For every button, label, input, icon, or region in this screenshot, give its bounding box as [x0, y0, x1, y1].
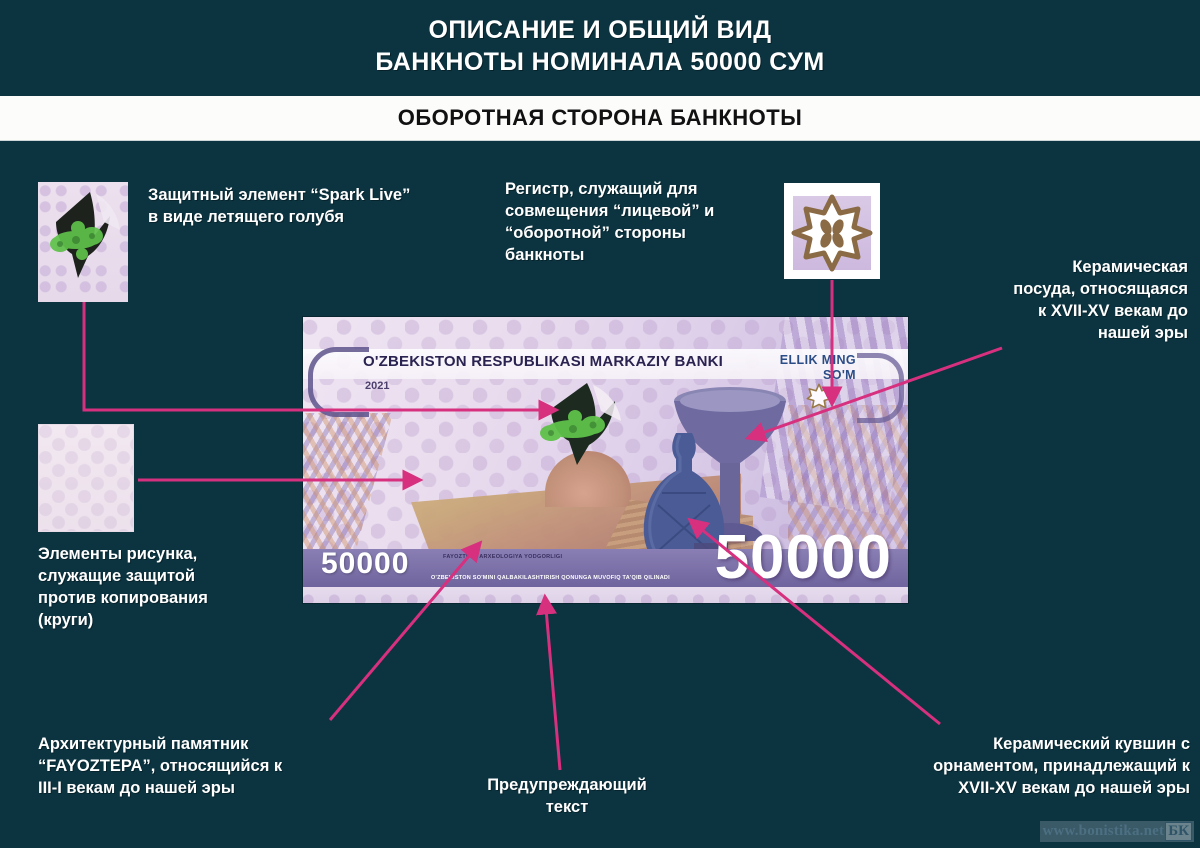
watermark-badge: БК [1165, 822, 1192, 841]
annotation-spark-live: Защитный элемент “Spark Live” в виде лет… [148, 184, 478, 228]
title-line-2: БАНКНОТЫ НОМИНАЛА 50000 СУМ [375, 46, 824, 78]
poster-root: ОПИСАНИЕ И ОБЩИЙ ВИД БАНКНОТЫ НОМИНАЛА 5… [0, 0, 1200, 848]
connector-warning-text [545, 597, 560, 770]
thumbnail-spark-live-dove [38, 182, 128, 302]
banknote-bank-name: O'ZBEKISTON RESPUBLIKASI MARKAZIY BANKI [363, 353, 723, 370]
annotation-anticopy: Элементы рисунка, служащие защитой проти… [38, 543, 288, 631]
annotation-monument: Архитектурный памятник “FAYOZTEPA”, отно… [38, 733, 348, 799]
banknote-year: 2021 [365, 380, 389, 392]
site-watermark: www.bonistika.net БК [1040, 821, 1194, 842]
thumbnail-register-star [784, 183, 880, 279]
banknote-monument-caption: FAYOZTEPA ARXEOLOGIYA YODGORLIGI [443, 554, 562, 560]
annotation-warning-text: Предупреждающий текст [452, 774, 682, 818]
banknote-image: O'ZBEKISTON RESPUBLIKASI MARKAZIY BANKI … [303, 317, 908, 603]
banknote-left-chevron [308, 347, 369, 417]
banknote-ellik-line2: SO'M [780, 368, 856, 383]
thumbnail-anticopy-circles [38, 424, 134, 532]
subtitle-bar: ОБОРОТНАЯ СТОРОНА БАНКНОТЫ [0, 96, 1200, 140]
eight-point-star-icon [784, 183, 880, 279]
page-title: ОПИСАНИЕ И ОБЩИЙ ВИД БАНКНОТЫ НОМИНАЛА 5… [0, 0, 1200, 92]
banknote-warning-strip: O'ZBEKISTON SO'MINI QALBAKILASHTIRISH QO… [431, 575, 670, 581]
annotation-ceramic-ware: Керамическая посуда, относящаяся к XVII-… [940, 256, 1188, 344]
banknote-denomination-large: 50000 [715, 527, 892, 589]
banknote-register-star-icon [806, 383, 832, 409]
annotation-ceramic-jug: Керамический кувшин с орнаментом, принад… [872, 733, 1190, 799]
subtitle-text: ОБОРОТНАЯ СТОРОНА БАНКНОТЫ [398, 105, 803, 131]
banknote-denomination-small: 50000 [321, 547, 409, 581]
banknote-dove-icon [531, 379, 627, 469]
watermark-site: www.bonistika.net [1042, 823, 1164, 840]
banknote-right-chevron [857, 353, 904, 423]
dove-thumb-icon [38, 182, 128, 302]
banknote-ellik-line1: ELLIK MING [780, 353, 856, 368]
banknote-denomination-words: ELLIK MING SO'M [780, 353, 856, 383]
annotation-register: Регистр, служащий для совмещения “лицево… [505, 178, 775, 266]
title-line-1: ОПИСАНИЕ И ОБЩИЙ ВИД [428, 14, 771, 46]
